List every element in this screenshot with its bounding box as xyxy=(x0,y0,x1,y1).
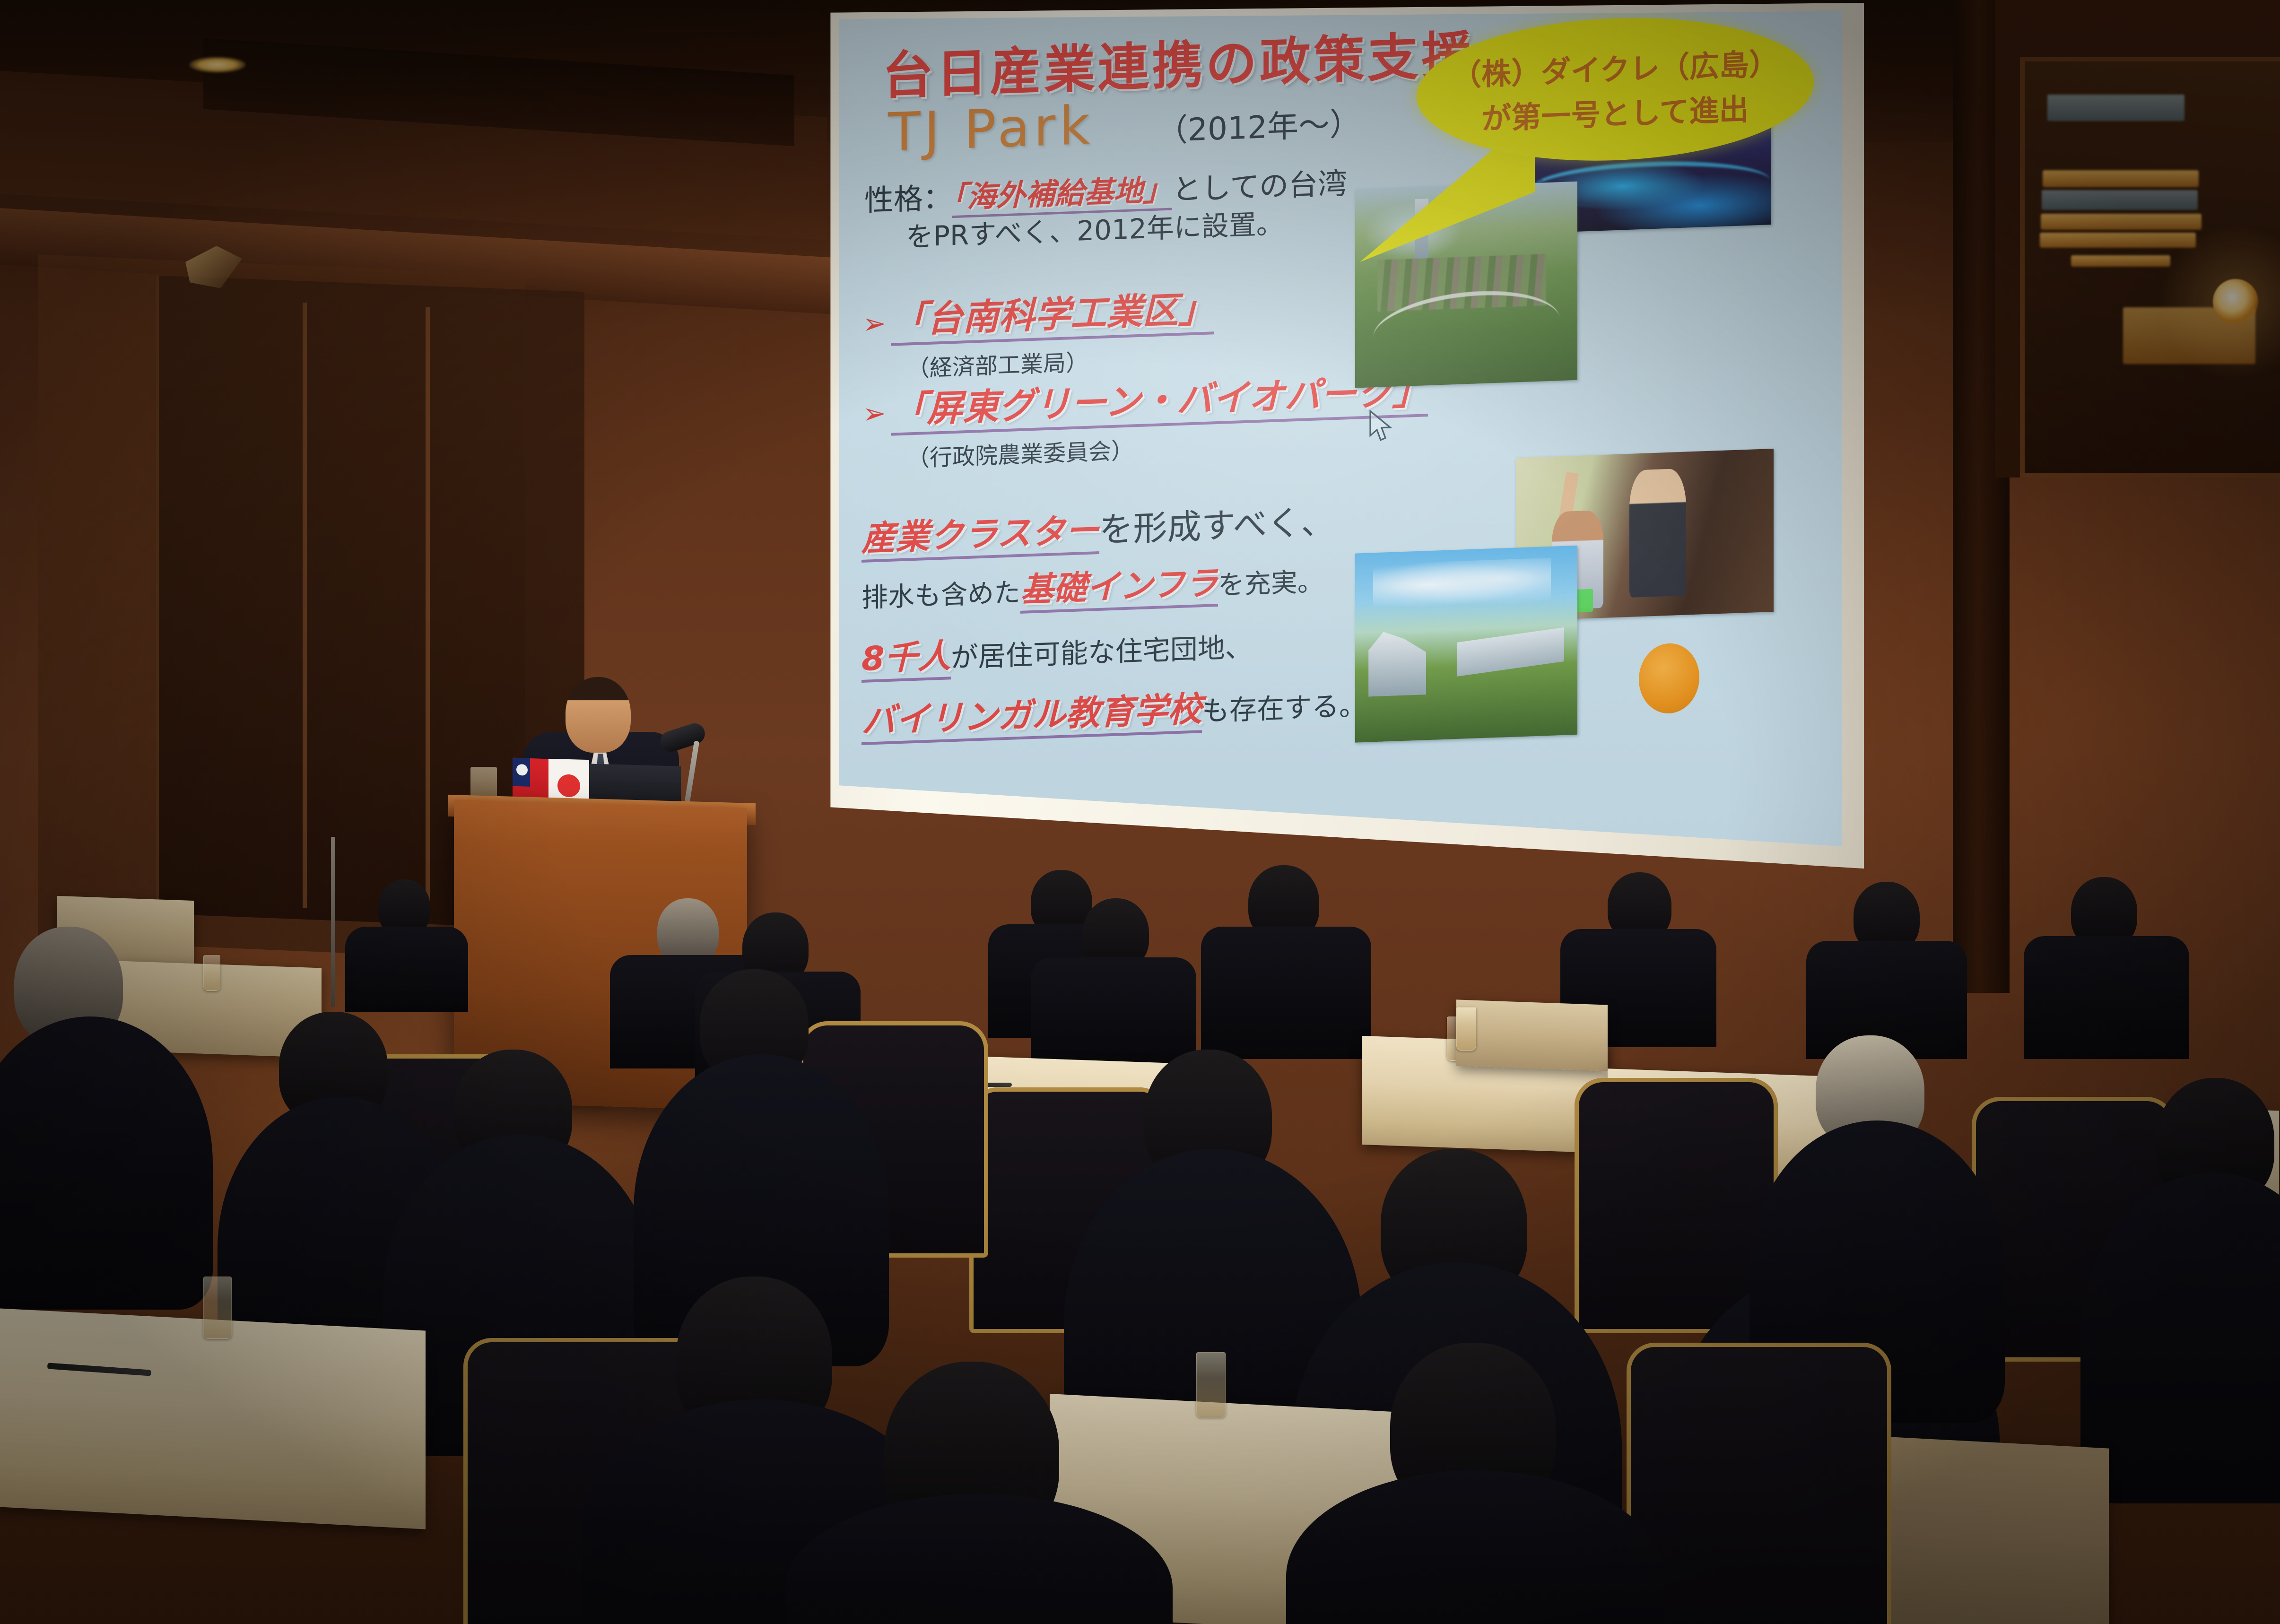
attendee-shoulders xyxy=(1201,927,1371,1059)
slide-body-line-3: 8千人が居住可能な住宅団地、 xyxy=(862,618,1253,680)
wall-lamp-icon xyxy=(2213,279,2258,324)
slide: 台日産業連携の政策支援 TJ Park （2012年～） 性格：「海外補給基地」… xyxy=(835,9,1842,879)
clouds-shape xyxy=(1373,558,1551,609)
teacher-shape xyxy=(1629,468,1686,597)
window-panel xyxy=(2047,95,2184,121)
slide-bullet-1: ➢「台南科学工業区」 xyxy=(862,279,1214,344)
window-panel xyxy=(2071,255,2170,267)
campus-building-shape xyxy=(1368,630,1426,696)
body-3-highlight: 8千人 xyxy=(862,636,951,683)
attendee-shoulders xyxy=(1031,957,1196,1076)
accent-dot xyxy=(1639,643,1699,715)
slide-subtitle-year: （2012年～） xyxy=(1157,98,1361,151)
body-1-rest: を形成すべく、 xyxy=(1099,502,1335,550)
character-rest: としての台湾 xyxy=(1172,166,1347,207)
slide-title: 台日産業連携の政策支援 xyxy=(882,14,1475,109)
body-4-highlight: バイリンガル教育学校 xyxy=(862,689,1202,745)
slide-subtitle-main: TJ Park xyxy=(888,95,1094,164)
window-panel xyxy=(2041,214,2202,230)
bullet-2-text: 「屏東グリーン・バイオパーク」 xyxy=(891,370,1428,436)
speaker-head xyxy=(566,677,631,753)
slide-body-line-4: バイリンガル教育学校も存在する。 xyxy=(862,675,1366,743)
bullet-arrow-icon: ➢ xyxy=(862,307,886,341)
body-2-rest: を充実。 xyxy=(1218,566,1324,601)
floor-mic-stand xyxy=(331,837,335,1007)
window-panel xyxy=(2040,233,2196,248)
attendee-head xyxy=(657,898,719,964)
character-label: 性格： xyxy=(864,180,952,218)
slide-body-line-2: 排水も含めた基礎インフラを充実。 xyxy=(862,553,1324,617)
window-panel xyxy=(2043,170,2199,187)
bullet-1-text: 「台南科学工業区」 xyxy=(891,287,1214,346)
screen-surface: 台日産業連携の政策支援 TJ Park （2012年～） 性格：「海外補給基地」… xyxy=(835,9,1842,879)
banquet-chair xyxy=(1627,1343,1891,1624)
water-glass xyxy=(1196,1352,1226,1417)
slide-bullet-2-sub: （行政院農業委員会） xyxy=(907,432,1134,473)
green-campus-photo xyxy=(1355,546,1577,743)
window-mullion xyxy=(303,303,307,908)
body-4-rest: も存在する。 xyxy=(1202,689,1366,727)
flag-disc-icon xyxy=(557,774,580,797)
body-1-highlight: 産業クラスター xyxy=(862,510,1099,563)
body-2-pre: 排水も含めた xyxy=(862,577,1020,614)
attendee-shoulders xyxy=(2024,936,2189,1059)
body-2-highlight: 基礎インフラ xyxy=(1020,564,1218,614)
flag-sun-icon xyxy=(516,764,528,776)
canopy-shape xyxy=(1457,627,1564,677)
downlight-icon xyxy=(189,57,246,73)
body-3-rest: が居住可能な住宅団地、 xyxy=(951,631,1253,674)
table xyxy=(1456,999,1608,1071)
slide-body-line-1: 産業クラスターを形成すべく、 xyxy=(862,494,1335,560)
water-glass xyxy=(203,955,220,991)
table xyxy=(0,1307,426,1529)
projection-screen: 台日産業連携の政策支援 TJ Park （2012年～） 性格：「海外補給基地」… xyxy=(828,3,1864,892)
window-mullion xyxy=(426,307,430,908)
attendee-shoulders xyxy=(345,927,468,1012)
window-panel xyxy=(2042,190,2198,210)
callout-bubble: （株）ダイクレ（広島） が第一号として進出 xyxy=(1417,11,1814,167)
bullet-arrow-icon: ➢ xyxy=(862,397,886,431)
water-glass xyxy=(203,1277,232,1339)
water-glass xyxy=(1456,1007,1476,1051)
conference-room-photo: 台日産業連携の政策支援 TJ Park （2012年～） 性格：「海外補給基地」… xyxy=(0,0,2280,1624)
